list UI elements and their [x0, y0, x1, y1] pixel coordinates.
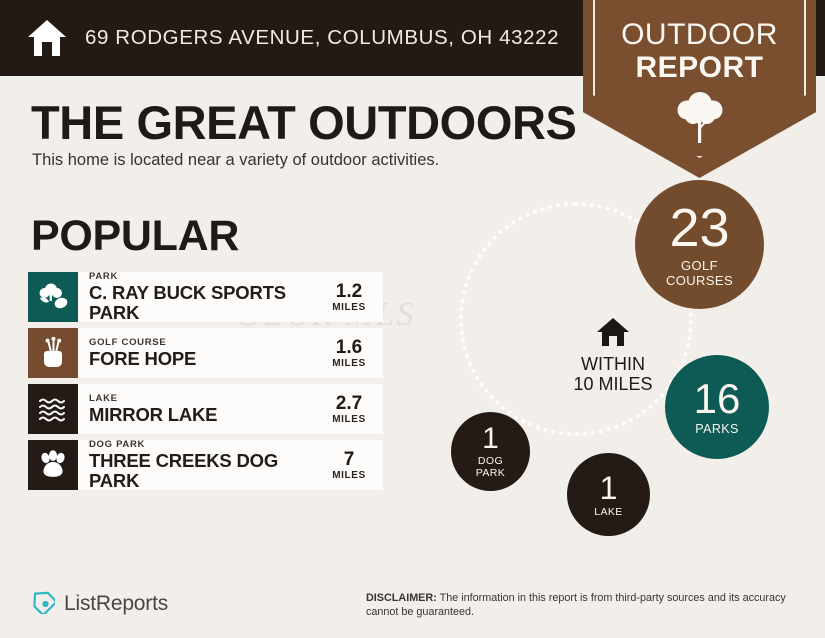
list-item-name: MIRROR LAKE: [89, 405, 323, 425]
stat-count: 23: [669, 201, 729, 255]
trees-icon: [28, 272, 78, 322]
list-item-unit: MILES: [332, 470, 366, 481]
disclaimer-label: DISCLAIMER:: [366, 592, 437, 604]
stat-label-line1: GOLF: [681, 258, 718, 273]
list-item[interactable]: GOLF COURSE FORE HOPE 1.6 MILES: [28, 328, 383, 378]
listreports-logo[interactable]: ListReports: [30, 588, 168, 619]
badge-title: OUTDOOR REPORT: [583, 18, 816, 84]
summary-graphic: 23 GOLF COURSES 16 PARKS 1 DOG PARK 1 LA…: [420, 170, 810, 560]
popular-heading: POPULAR: [31, 212, 239, 261]
tree-icon: [583, 88, 816, 144]
page-subtitle: This home is located near a variety of o…: [32, 151, 439, 170]
within-label-line1: WITHIN: [538, 354, 688, 374]
list-item-distance: 2.7: [336, 394, 362, 414]
stat-circle-dog-park: 1 DOG PARK: [451, 412, 530, 491]
listreports-wordmark: ListReports: [64, 592, 168, 616]
home-icon: [538, 317, 688, 347]
list-item-distance: 7: [344, 450, 355, 470]
outdoor-report-badge: OUTDOOR REPORT: [583, 0, 816, 178]
page-title: THE GREAT OUTDOORS: [31, 96, 577, 149]
list-item-name: THREE CREEKS DOG PARK: [89, 451, 323, 490]
list-item-distance: 1.6: [336, 338, 362, 358]
disclaimer: DISCLAIMER: The information in this repo…: [366, 592, 812, 619]
stat-count: 1: [600, 472, 618, 504]
popular-list: PARK C. RAY BUCK SPORTS PARK 1.2 MILES G…: [28, 272, 383, 496]
list-item[interactable]: LAKE MIRROR LAKE 2.7 MILES: [28, 384, 383, 434]
list-item-name: FORE HOPE: [89, 349, 323, 369]
stat-label: LAKE: [594, 506, 622, 518]
stat-label-line2: PARK: [476, 467, 505, 479]
list-item[interactable]: PARK C. RAY BUCK SPORTS PARK 1.2 MILES: [28, 272, 383, 322]
stat-label: PARKS: [695, 422, 738, 436]
waves-icon: [28, 384, 78, 434]
list-item-unit: MILES: [332, 302, 366, 313]
list-item-distance: 1.2: [336, 282, 362, 302]
home-icon: [26, 18, 68, 58]
within-radius-center: WITHIN 10 MILES: [538, 317, 688, 394]
listreports-house-icon: [30, 588, 55, 619]
list-item-unit: MILES: [332, 414, 366, 425]
golf-bag-icon: [28, 328, 78, 378]
stat-label-line2: COURSES: [666, 273, 733, 288]
stat-circle-lake: 1 LAKE: [567, 453, 650, 536]
list-item[interactable]: DOG PARK THREE CREEKS DOG PARK 7 MILES: [28, 440, 383, 490]
stat-circle-golf-courses: 23 GOLF COURSES: [635, 180, 764, 309]
list-item-name: C. RAY BUCK SPORTS PARK: [89, 283, 323, 322]
paw-icon: [28, 440, 78, 490]
badge-title-line1: OUTDOOR: [583, 18, 816, 51]
stat-label-line1: DOG: [478, 455, 503, 467]
list-item-unit: MILES: [332, 358, 366, 369]
stat-count: 1: [482, 424, 499, 454]
badge-title-line2: REPORT: [583, 51, 816, 84]
within-label-line2: 10 MILES: [538, 374, 688, 394]
stat-count: 16: [694, 378, 741, 420]
property-address: 69 RODGERS AVENUE, COLUMBUS, OH 43222: [85, 26, 559, 50]
